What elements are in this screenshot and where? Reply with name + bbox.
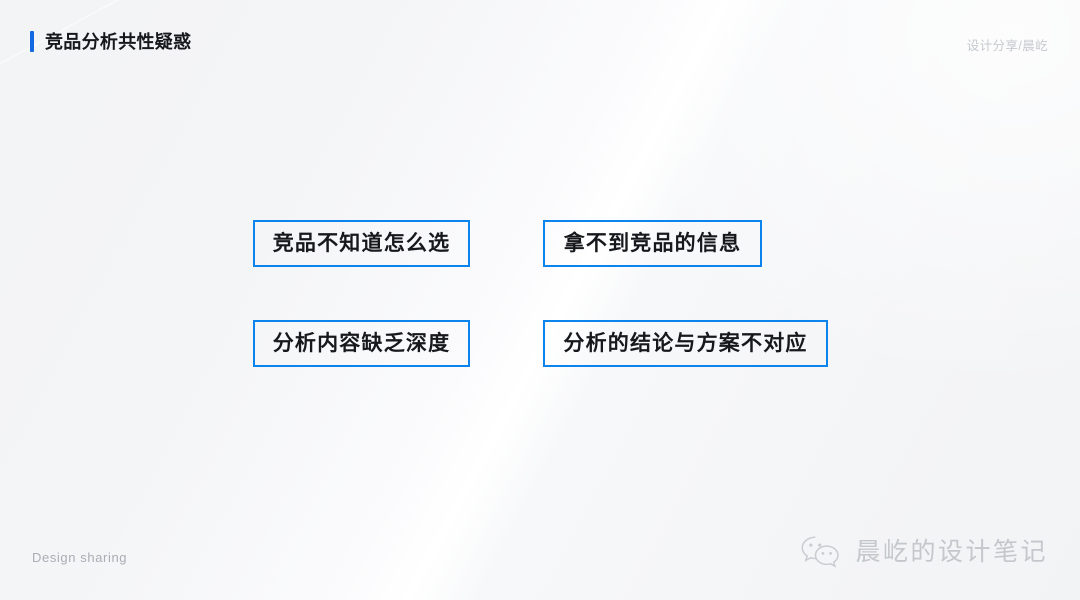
- brand-signature: 晨屹的设计笔记: [800, 534, 1048, 570]
- page-title: 竞品分析共性疑惑: [45, 33, 191, 51]
- footer-left-label: Design sharing: [32, 550, 127, 565]
- issue-box-3-label: 分析内容缺乏深度: [273, 333, 451, 354]
- issue-box-1[interactable]: 竞品不知道怎么选: [253, 220, 470, 267]
- slide-header: 竞品分析共性疑惑: [30, 31, 191, 52]
- issue-box-3[interactable]: 分析内容缺乏深度: [253, 320, 470, 367]
- issue-box-2[interactable]: 拿不到竞品的信息: [543, 220, 762, 267]
- wechat-icon: [800, 534, 842, 570]
- header-meta-label: 设计分享/晨屹: [967, 35, 1048, 54]
- issue-box-2-label: 拿不到竞品的信息: [564, 233, 742, 254]
- title-accent-bar: [30, 31, 34, 52]
- issue-box-1-label: 竞品不知道怎么选: [273, 233, 451, 254]
- issue-box-grid: 竞品不知道怎么选 拿不到竞品的信息 分析内容缺乏深度 分析的结论与方案不对应: [253, 220, 828, 367]
- issue-box-4[interactable]: 分析的结论与方案不对应: [543, 320, 828, 367]
- issue-box-row: 分析内容缺乏深度 分析的结论与方案不对应: [253, 320, 828, 367]
- issue-box-4-label: 分析的结论与方案不对应: [563, 333, 807, 354]
- issue-box-row: 竞品不知道怎么选 拿不到竞品的信息: [253, 220, 828, 267]
- slide-canvas: 竞品分析共性疑惑 设计分享/晨屹 竞品不知道怎么选 拿不到竞品的信息 分析内容缺…: [0, 0, 1080, 600]
- brand-name-label: 晨屹的设计笔记: [855, 540, 1048, 565]
